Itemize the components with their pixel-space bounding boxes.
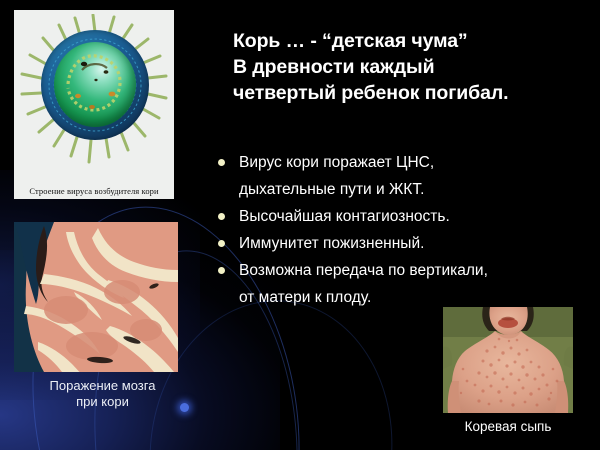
list-item: Высочайшая контагиозность. [213, 203, 598, 230]
title-line-2: В древности каждый [233, 54, 593, 80]
brain-caption-line-2: при кори [76, 394, 129, 409]
brain-caption-line-1: Поражение мозга [50, 378, 156, 393]
brain-figure-caption: Поражение мозга при кори [0, 378, 205, 410]
slide-canvas: Строение вируса возбудителя кори [0, 0, 600, 450]
bullet-dot-icon [218, 159, 225, 166]
bullet-list: Вирус кори поражает ЦНС, дыхательные пут… [213, 149, 598, 311]
brain-section-figure [14, 222, 178, 372]
rash-figure-caption: Коревая сыпь [428, 419, 588, 434]
page-title: Корь … - “детская чума” В древности кажд… [233, 28, 593, 106]
bullet-dot-icon [218, 267, 225, 274]
title-line-3: четвертый ребенок погибал. [233, 80, 593, 106]
list-item: Иммунитет пожизненный. [213, 230, 598, 257]
title-line-1: Корь … - “детская чума” [233, 28, 593, 54]
bullet-dot-icon [218, 213, 225, 220]
measles-rash-image [443, 307, 573, 413]
list-item: Вирус кори поражает ЦНС, дыхательные пут… [213, 149, 598, 203]
virus-figure-caption: Строение вируса возбудителя кори [14, 186, 174, 196]
bullet-text-line-1: Иммунитет пожизненный. [239, 230, 598, 257]
bullet-text-line-1: Возможна передача по вертикали, [239, 257, 598, 284]
bullet-text-line-2: дыхательные пути и ЖКТ. [239, 176, 598, 203]
virus-diagram-image [14, 14, 174, 166]
brain-section-image [14, 222, 178, 372]
list-item: Возможна передача по вертикали, от матер… [213, 257, 598, 311]
bullet-text-line-2: от матери к плоду. [239, 284, 598, 311]
bullet-text-line-1: Вирус кори поражает ЦНС, [239, 149, 598, 176]
virus-structure-figure: Строение вируса возбудителя кори [14, 10, 174, 199]
bullet-dot-icon [218, 240, 225, 247]
measles-rash-figure [443, 307, 573, 413]
bullet-text-line-1: Высочайшая контагиозность. [239, 203, 598, 230]
virus-rna-strand [62, 50, 128, 118]
